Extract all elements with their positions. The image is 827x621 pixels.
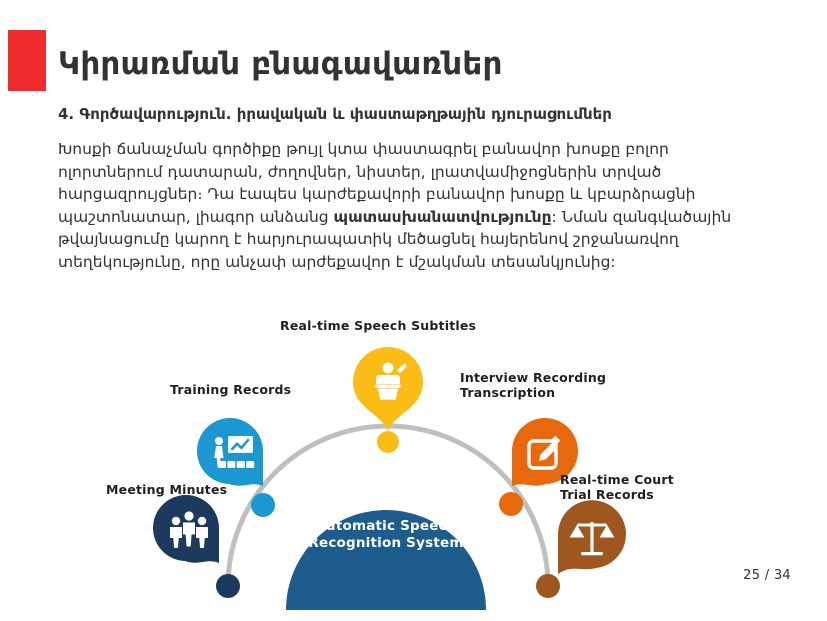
node-real-time-speech-subtitles[interactable]: [353, 347, 423, 431]
node-real-time-court-trial-records[interactable]: [558, 500, 626, 574]
node-meeting-minutes[interactable]: [153, 495, 219, 563]
connector-dot-training-records: [251, 493, 275, 517]
node-label-interview-recording-transcription: Interview Recording Transcription: [460, 370, 606, 400]
connector-dot-meeting-minutes: [216, 574, 240, 598]
node-label-real-time-court-trial-records: Real-time Court Trial Records: [560, 472, 674, 502]
presentation-training-icon: [214, 436, 254, 468]
node-training-records[interactable]: [197, 418, 263, 486]
slide-accent-bar: [8, 30, 46, 91]
meeting-people-icon: [170, 511, 208, 548]
connector-dot-subtitles: [377, 431, 399, 453]
page-number: 25 / 34: [743, 568, 791, 583]
page-title: Կիրառման բնագավառներ: [58, 46, 503, 82]
connector-dot-interview: [499, 492, 523, 516]
node-label-training-records: Training Records: [170, 382, 291, 397]
node-label-meeting-minutes: Meeting Minutes: [106, 482, 227, 497]
node-label-real-time-speech-subtitles: Real-time Speech Subtitles: [280, 318, 476, 333]
asr-application-diagram: Real-time Speech Subtitles Training Reco…: [100, 310, 740, 610]
hub-semicircle: [286, 510, 486, 610]
body-paragraph: Խոսքի ճանաչման գործիքը թույլ կտա փաստագր…: [58, 138, 758, 274]
section-subtitle: 4. Գործավարություն. իրավական և փաստաթղթա…: [58, 105, 612, 123]
connector-dot-court-records: [536, 574, 560, 598]
diagram-canvas: [100, 310, 740, 610]
body-text-emphasis: պատասխանատվությունը: [334, 208, 552, 226]
